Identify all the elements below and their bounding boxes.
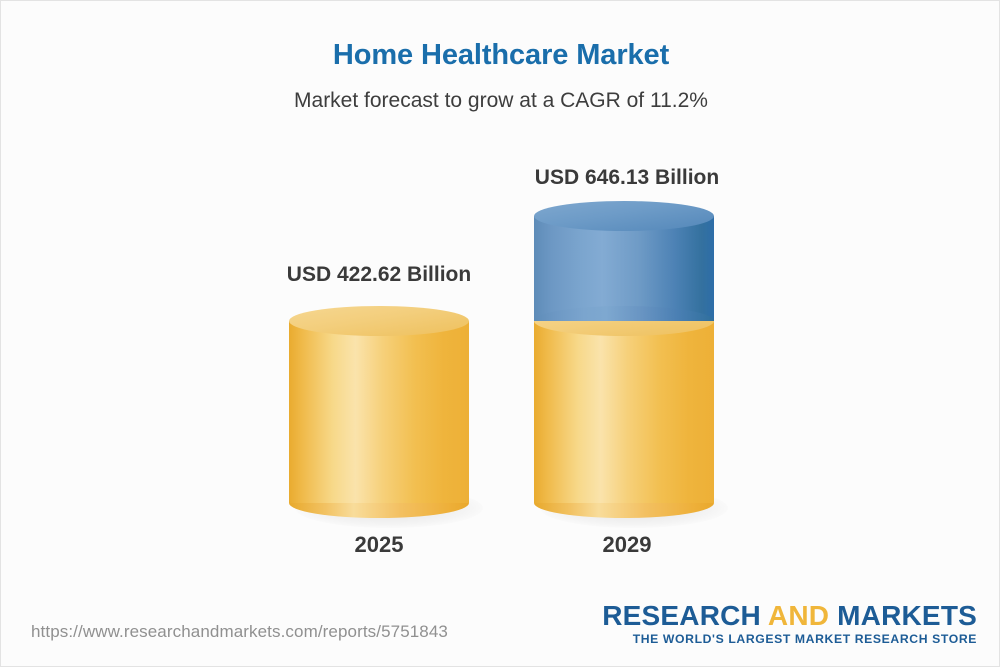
bar-2025[interactable] (289, 306, 469, 516)
cylinder-segment-base-2029 (534, 321, 714, 503)
cylinder-body-2025 (289, 321, 469, 503)
category-label-2029: 2029 (457, 532, 797, 558)
brand-logo: RESEARCH AND MARKETS THE WORLD'S LARGEST… (602, 601, 977, 646)
source-url[interactable]: https://www.researchandmarkets.com/repor… (31, 622, 448, 642)
value-label-2029: USD 646.13 Billion (457, 166, 797, 190)
brand-name-and: AND (768, 600, 829, 631)
brand-name-part2: MARKETS (829, 600, 977, 631)
value-label-2025: USD 422.62 Billion (209, 263, 549, 287)
brand-tagline: THE WORLD'S LARGEST MARKET RESEARCH STOR… (602, 632, 977, 646)
brand-name: RESEARCH AND MARKETS (602, 601, 977, 630)
brand-name-part1: RESEARCH (602, 600, 768, 631)
chart-canvas: Home Healthcare Market Market forecast t… (0, 0, 1000, 667)
cylinder-top-2029 (534, 201, 714, 231)
cylinder-top-2025 (289, 306, 469, 336)
plot-area: USD 422.62 Billion 2025 USD 646.13 Billi… (1, 1, 1000, 601)
cylinder-segment-growth-2029 (534, 216, 714, 321)
bar-2029[interactable] (534, 201, 714, 516)
